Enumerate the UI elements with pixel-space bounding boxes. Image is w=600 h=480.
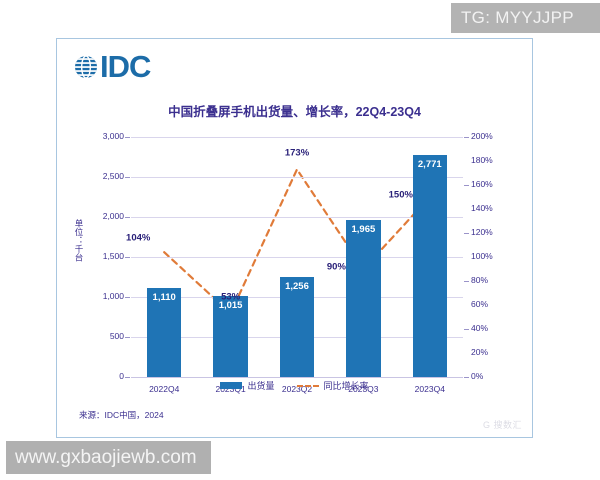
bar-value-label: 1,110 <box>147 292 182 303</box>
legend-bar-label: 出货量 <box>247 379 274 392</box>
y-axis-tick-left: 500 <box>110 331 124 341</box>
y-axis-tick-right: 160% <box>471 179 493 189</box>
y-axis-tick-mark-left <box>125 137 130 138</box>
idc-wordmark: IDC <box>100 51 150 82</box>
chart-legend: 出货量 同比增长率 <box>57 379 532 392</box>
chart-card: IDC 中国折叠屏手机出货量、增长率，22Q4-23Q4 单位：千台 05001… <box>56 38 533 438</box>
legend-item-growth-rate: 同比增长率 <box>297 379 369 392</box>
y-axis-tick-mark-left <box>125 177 130 178</box>
site-watermark: www.gxbaojiewb.com <box>6 441 211 474</box>
y-axis-tick-left: 3,000 <box>103 131 124 141</box>
y-axis-tick-mark-left <box>125 297 130 298</box>
y-axis-tick-right: 200% <box>471 131 493 141</box>
growth-rate-value-label: 104% <box>126 233 150 244</box>
chart-title: 中国折叠屏手机出货量、增长率，22Q4-23Q4 <box>57 101 532 120</box>
y-axis-tick-right: 80% <box>471 275 488 285</box>
corner-watermark-logo: G 搜数汇 <box>483 418 522 431</box>
gridline <box>131 137 463 138</box>
growth-rate-value-label: 90% <box>327 262 346 273</box>
bar-value-label: 1,965 <box>346 224 381 235</box>
y-axis-tick-mark-right <box>464 329 469 330</box>
y-axis-tick-mark-left <box>125 217 130 218</box>
y-axis-tick-mark-left <box>125 257 130 258</box>
y-axis-tick-right: 100% <box>471 251 493 261</box>
bar[interactable] <box>280 277 315 377</box>
y-axis-tick-left: 1,500 <box>103 251 124 261</box>
y-axis-tick-mark-right <box>464 281 469 282</box>
y-axis-tick-right: 60% <box>471 299 488 309</box>
bar-value-label: 1,256 <box>280 281 315 292</box>
bar-value-label: 2,771 <box>413 159 448 170</box>
telegram-tag-overlay: TG: MYYJJPP <box>451 3 600 33</box>
y-axis-tick-right: 40% <box>471 323 488 333</box>
y-axis-tick-mark-right <box>464 377 469 378</box>
plot-wrapper: 05001,0001,5002,0002,5003,0000%20%40%60%… <box>85 131 515 406</box>
legend-bar-swatch <box>220 382 242 389</box>
y-axis-tick-mark-right <box>464 233 469 234</box>
plot-area: 05001,0001,5002,0002,5003,0000%20%40%60%… <box>131 137 463 378</box>
y-axis-tick-mark-right <box>464 137 469 138</box>
legend-item-shipments: 出货量 <box>220 379 274 392</box>
bar[interactable] <box>413 155 448 377</box>
y-axis-tick-left: 1,000 <box>103 291 124 301</box>
idc-logo: IDC <box>73 51 150 82</box>
y-axis-tick-right: 140% <box>471 203 493 213</box>
y-axis-tick-mark-left <box>125 377 130 378</box>
y-axis-tick-right: 20% <box>471 347 488 357</box>
y-axis-tick-left: 2,500 <box>103 171 124 181</box>
source-note: 来源：IDC中国，2024 <box>79 409 164 421</box>
legend-line-swatch <box>297 382 319 389</box>
y-axis-tick-mark-right <box>464 185 469 186</box>
growth-rate-value-label: 53% <box>221 292 240 303</box>
y-axis-tick-mark-left <box>125 337 130 338</box>
bar[interactable] <box>346 220 381 377</box>
growth-rate-value-label: 173% <box>285 148 309 159</box>
y-axis-tick-right: 120% <box>471 227 493 237</box>
growth-rate-value-label: 150% <box>389 190 413 201</box>
y-axis-tick-right: 180% <box>471 155 493 165</box>
legend-line-label: 同比增长率 <box>324 379 369 392</box>
y-axis-label: 单位：千台 <box>71 219 85 262</box>
y-axis-tick-left: 2,000 <box>103 211 124 221</box>
globe-icon <box>73 54 99 80</box>
